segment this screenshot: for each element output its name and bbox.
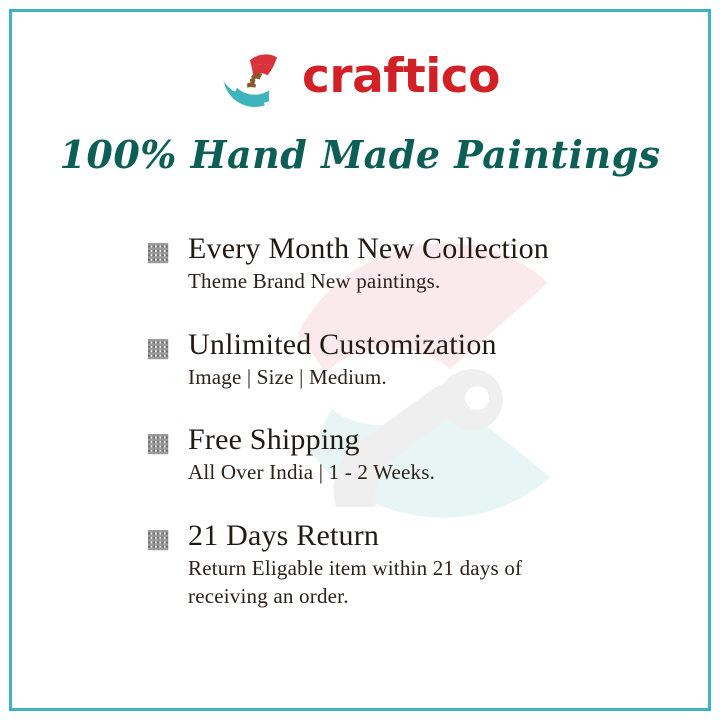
page-title: 100% Hand Made Paintings — [0, 132, 720, 177]
woven-grid-bullet-icon — [146, 337, 170, 361]
feature-subtitle: Return Eligable item within 21 days of r… — [188, 555, 548, 610]
promo-card: craftico 100% Hand Made Paintings — [0, 0, 720, 720]
brand-header: craftico — [0, 36, 720, 112]
feature-subtitle: Image | Size | Medium. — [188, 364, 616, 392]
list-item: Unlimited Customization Image | Size | M… — [146, 328, 616, 392]
woven-grid-bullet-icon — [146, 241, 170, 265]
feature-subtitle: All Over India | 1 - 2 Weeks. — [188, 459, 616, 487]
feature-title: 21 Days Return — [188, 519, 616, 552]
feature-list: Every Month New Collection Theme Brand N… — [146, 232, 616, 611]
woven-grid-bullet-icon — [146, 528, 170, 552]
list-item: Every Month New Collection Theme Brand N… — [146, 232, 616, 296]
brand-wordmark: craftico — [302, 53, 500, 100]
woven-grid-bullet-icon — [146, 432, 170, 456]
feature-title: Free Shipping — [188, 423, 616, 456]
list-item: 21 Days Return Return Eligable item with… — [146, 519, 616, 610]
feature-title: Every Month New Collection — [188, 232, 616, 265]
craftico-logo-icon — [220, 40, 288, 108]
feature-title: Unlimited Customization — [188, 328, 616, 361]
feature-subtitle: Theme Brand New paintings. — [188, 268, 616, 296]
list-item: Free Shipping All Over India | 1 - 2 Wee… — [146, 423, 616, 487]
